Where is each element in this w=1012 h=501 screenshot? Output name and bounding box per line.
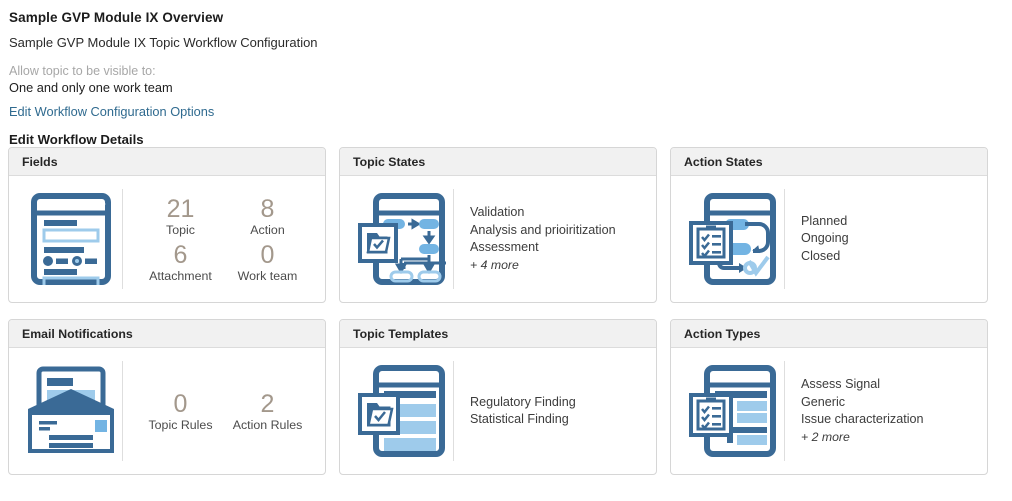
card-body-email-notifications: 0 Topic Rules 2 Action Rules [9, 348, 325, 474]
list-action-states: Planned Ongoing Closed [799, 213, 981, 266]
stats-fields: 21 Topic 8 Action 6 Attachment 0 Work te… [137, 194, 319, 284]
card-topic-templates[interactable]: Topic Templates [339, 319, 657, 475]
workflow-diagram-icon [350, 189, 454, 289]
stat-value: 6 [137, 240, 224, 270]
stat-value: 21 [137, 194, 224, 224]
stat-action: 8 Action [224, 194, 311, 238]
card-title-action-types: Action Types [671, 320, 987, 348]
page-title: Sample GVP Module IX Overview [9, 10, 1012, 26]
card-body-action-types: Assess Signal Generic Issue characteriza… [671, 348, 987, 474]
envelope-icon [19, 361, 123, 461]
list-topic-templates: Regulatory Finding Statistical Finding [468, 394, 650, 429]
card-title-topic-states: Topic States [340, 148, 656, 176]
form-document-icon [19, 189, 123, 289]
card-title-action-states: Action States [671, 148, 987, 176]
card-title-topic-templates: Topic Templates [340, 320, 656, 348]
stat-value: 8 [224, 194, 311, 224]
stat-label: Topic Rules [137, 417, 224, 433]
visibility-value: One and only one work team [9, 80, 1012, 96]
page-subtitle: Sample GVP Module IX Topic Workflow Conf… [9, 35, 1012, 51]
stat-attachment: 6 Attachment [137, 240, 224, 284]
card-body-topic-states: Validation Analysis and prioiritization … [340, 176, 656, 302]
edit-workflow-details-heading: Edit Workflow Details [9, 132, 1012, 148]
card-body-fields: 21 Topic 8 Action 6 Attachment 0 Work te… [9, 176, 325, 302]
card-body-action-states: Planned Ongoing Closed [671, 176, 987, 302]
list-item: Analysis and prioiritization [470, 222, 650, 240]
list-item: Issue characterization [801, 411, 981, 429]
stat-value: 0 [224, 240, 311, 270]
list-item: Closed [801, 248, 981, 266]
visibility-meta: Allow topic to be visible to: One and on… [9, 64, 1012, 121]
stat-label: Attachment [137, 268, 224, 284]
list-topic-states: Validation Analysis and prioiritization … [468, 204, 650, 274]
list-more-indicator: + 2 more [801, 429, 981, 447]
card-action-types[interactable]: Action Types [670, 319, 988, 475]
stat-label: Work team [224, 268, 311, 284]
list-action-types: Assess Signal Generic Issue characteriza… [799, 376, 981, 446]
list-more-indicator: + 4 more [470, 257, 650, 275]
card-title-fields: Fields [9, 148, 325, 176]
list-item: Statistical Finding [470, 411, 650, 429]
list-item: Generic [801, 394, 981, 412]
list-item: Planned [801, 213, 981, 231]
stat-topic-rules: 0 Topic Rules [137, 389, 224, 433]
stats-email-notifications: 0 Topic Rules 2 Action Rules [137, 389, 319, 433]
list-item: Assessment [470, 239, 650, 257]
stat-label: Action [224, 222, 311, 238]
stat-work-team: 0 Work team [224, 240, 311, 284]
template-document-icon [350, 361, 454, 461]
card-email-notifications[interactable]: Email Notifications [8, 319, 326, 475]
stat-label: Action Rules [224, 417, 311, 433]
page-header: Sample GVP Module IX Overview Sample GVP… [0, 0, 1012, 148]
visibility-label: Allow topic to be visible to: [9, 64, 1012, 79]
workflow-overview-page: Sample GVP Module IX Overview Sample GVP… [0, 0, 1012, 501]
stat-value: 2 [224, 389, 311, 419]
stat-action-rules: 2 Action Rules [224, 389, 311, 433]
card-title-email-notifications: Email Notifications [9, 320, 325, 348]
checklist-document-icon [681, 361, 785, 461]
stat-topic: 21 Topic [137, 194, 224, 238]
list-item: Validation [470, 204, 650, 222]
list-item: Regulatory Finding [470, 394, 650, 412]
card-fields[interactable]: Fields [8, 147, 326, 303]
action-workflow-icon [681, 189, 785, 289]
list-item: Ongoing [801, 230, 981, 248]
workflow-card-grid: Fields [8, 147, 1004, 475]
edit-workflow-configuration-options-link[interactable]: Edit Workflow Configuration Options [9, 104, 214, 120]
list-item: Assess Signal [801, 376, 981, 394]
card-topic-states[interactable]: Topic States [339, 147, 657, 303]
card-body-topic-templates: Regulatory Finding Statistical Finding [340, 348, 656, 474]
stat-label: Topic [137, 222, 224, 238]
stat-value: 0 [137, 389, 224, 419]
card-action-states[interactable]: Action States [670, 147, 988, 303]
